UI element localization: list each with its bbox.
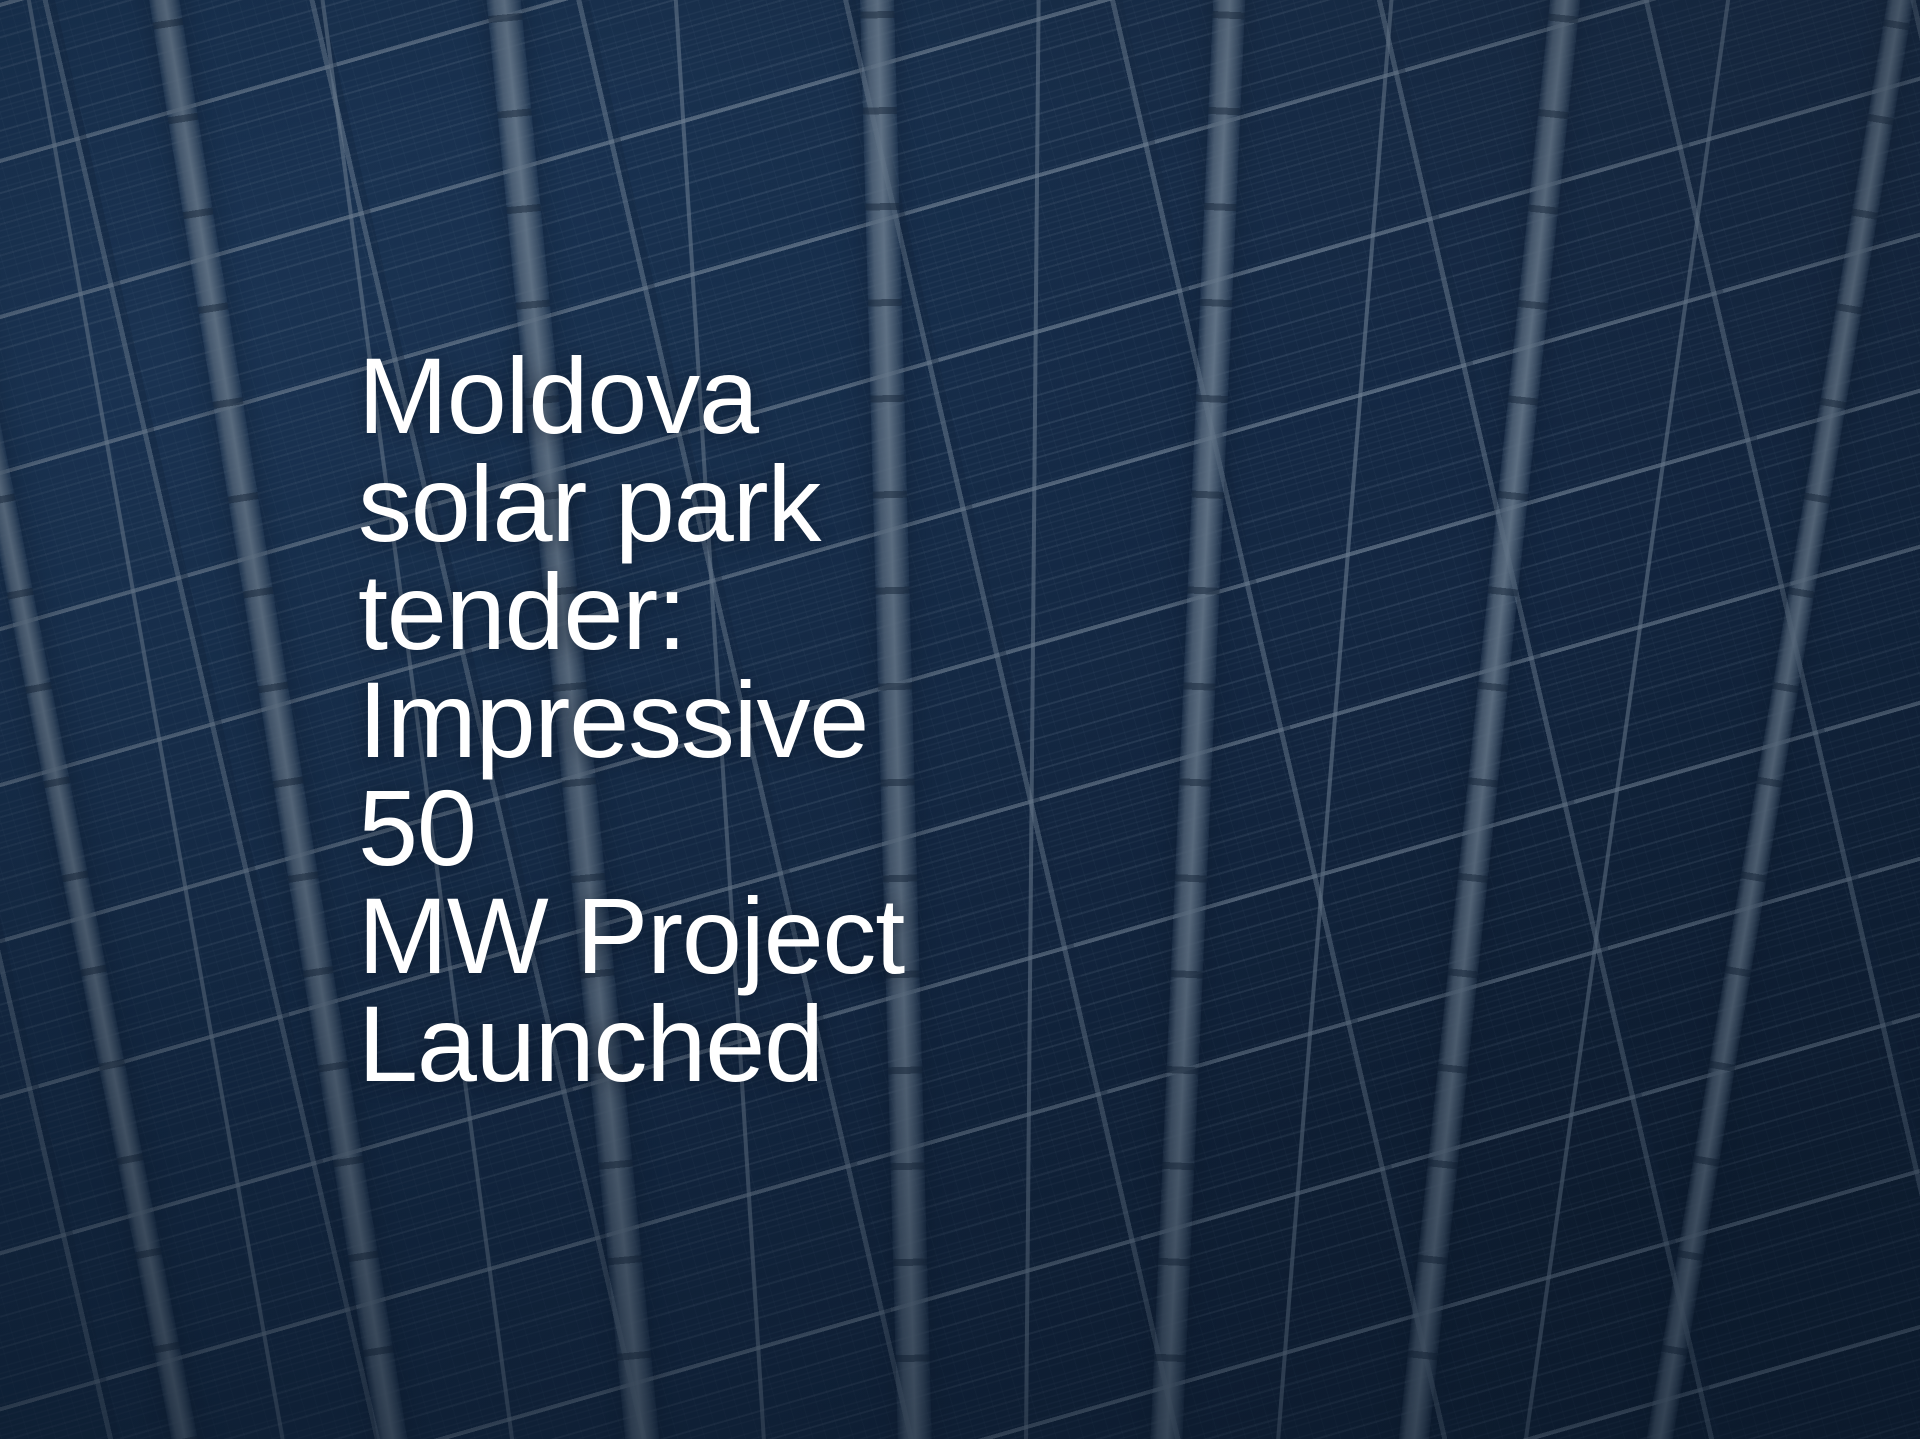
hero-banner: Moldova solar park tender: Impressive 50…: [0, 0, 1920, 1439]
page-title: Moldova solar park tender: Impressive 50…: [358, 342, 1000, 1098]
title-block: Moldova solar park tender: Impressive 50…: [0, 342, 1200, 1098]
title-overlay: Moldova solar park tender: Impressive 50…: [0, 0, 1920, 1439]
